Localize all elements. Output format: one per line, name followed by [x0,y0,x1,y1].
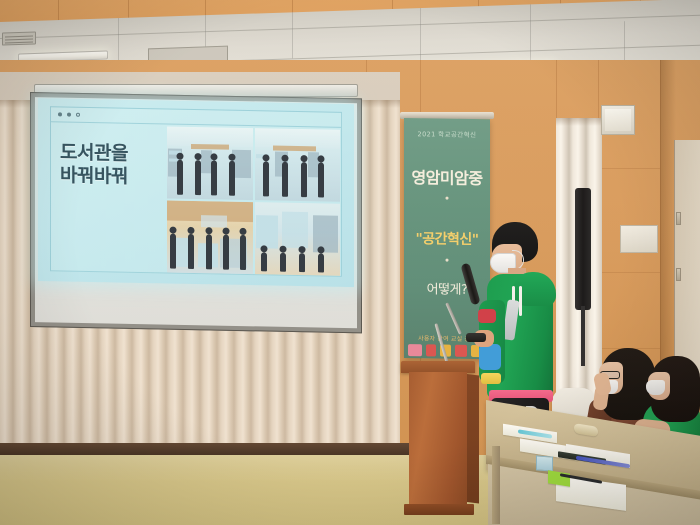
window-dot-icon [67,113,71,117]
presentation-slide: 도서관을 바꿔바꿔 [38,98,354,287]
podium-side [467,374,479,503]
slide-photo-grid [167,126,340,275]
banner-organization: 영암미암중 [404,164,490,189]
speaker-stand [581,306,585,366]
sleeve-cuff-yellow [481,373,501,384]
audience-2-face-mask [646,380,665,395]
slide-photo [255,202,341,276]
air-vent [2,31,36,45]
sleeve-colorblock-red [478,309,496,323]
slide-window-bar [51,107,341,128]
slide-title: 도서관을 바꿔바꿔 [60,141,170,189]
speaker-column [575,188,591,310]
slide-title-line-1: 도서관을 [60,141,170,166]
table-leg [492,446,500,524]
name-card[interactable] [536,455,553,471]
wall-plate [620,225,658,253]
banner-header: 2021 학교공간혁신 [404,128,490,139]
hoodie-drawstring [519,286,522,316]
window-dots [58,112,80,116]
banner-decoration [455,345,467,357]
event-banner: 2021 학교공간혁신 영암미암중 "공간혁신" 어떻게? 사용자 참여 교실 … [404,118,490,359]
slide-title-line-2: 바꿔바꿔 [60,165,170,190]
podium-base [404,504,474,515]
slide-photo [255,128,341,202]
presentation-room-scene: 도서관을 바꿔바꿔 [0,0,700,525]
banner-decoration [426,344,436,356]
sleeve-colorblock-blue [479,344,501,370]
door-hinge [676,268,681,281]
banner-decoration [408,344,422,356]
door-hinge [676,212,681,225]
wooden-podium [409,372,467,507]
presentation-clicker[interactable] [466,333,486,342]
slide-photo [167,126,253,200]
slide-photo [167,200,253,274]
window-dot-icon [76,113,80,117]
wall-speaker [601,105,635,135]
window-dot-icon [58,112,62,116]
banner-keyword: "공간혁신" [404,228,490,249]
